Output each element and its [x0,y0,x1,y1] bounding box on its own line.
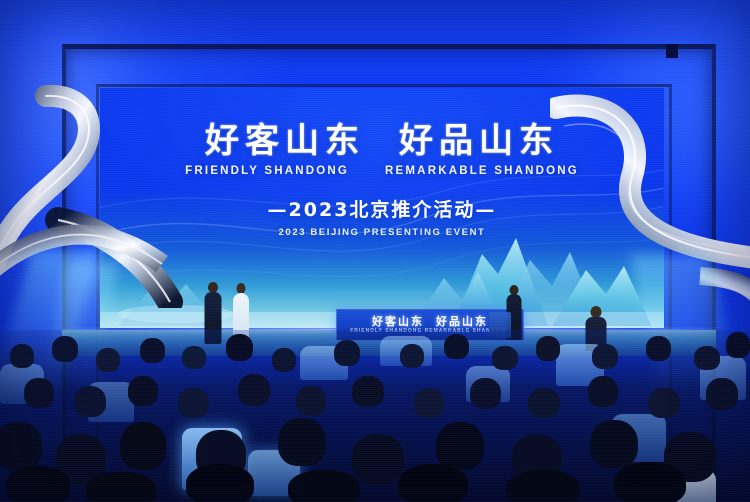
audience-head [120,422,166,470]
subtitle-english: 2023 BEIJING PRESENTING EVENT [100,227,664,238]
audience-head [24,378,54,408]
stage-photo-scene: 好客山东好品山东 FRIENDLY SHANDONG REMARKABLE SH… [0,0,750,502]
audience-head [278,418,326,466]
audience-head [352,434,404,484]
frame-corner-right [666,44,678,58]
audience-head-foreground [6,466,70,502]
podium-cn-right: 好品山东 [436,315,488,328]
podium-cn-left: 好客山东 [372,315,424,328]
audience-head [646,336,671,361]
audience-head [52,336,78,362]
audience-head [436,422,484,470]
audience-head [10,344,34,368]
led-title-block: 好客山东好品山东 FRIENDLY SHANDONG REMARKABLE SH… [100,124,664,238]
audience-head [140,338,165,363]
headline-cn-left: 好客山东 [205,121,365,161]
audience-head [444,334,469,359]
audience-head [96,348,120,372]
headline-english-row: FRIENDLY SHANDONG REMARKABLE SHANDONG [100,165,664,177]
audience-head-foreground [506,470,580,502]
headline-chinese: 好客山东好品山东 [205,124,559,158]
audience-head [492,346,518,370]
audience-head [128,376,158,406]
audience-head [536,336,560,361]
audience-head [592,344,618,369]
audience-head-foreground [398,464,468,502]
audience-head [470,378,501,409]
audience-head [726,332,750,358]
audience-head [272,348,296,372]
audience-head-foreground [86,472,156,502]
headline-en-right: REMARKABLE SHANDONG [385,165,579,177]
audience-head [334,340,360,366]
audience-head-foreground [614,462,686,502]
audience-head-foreground [186,464,254,502]
main-led-screen: 好客山东好品山东 FRIENDLY SHANDONG REMARKABLE SH… [100,88,664,328]
audience-head [414,388,444,418]
audience-head [400,344,424,368]
audience-head [590,420,638,468]
audience-area [0,330,750,502]
audience-head [178,388,209,418]
subtitle-chinese: —2023北京推介活动— [100,195,664,222]
audience-head [706,378,738,410]
audience-head [238,374,270,406]
audience-head [352,376,384,407]
audience-head-foreground [288,470,360,502]
audience-head [588,376,618,407]
audience-head [182,346,206,369]
audience-head [0,422,42,470]
headline-en-left: FRIENDLY SHANDONG [185,165,349,177]
audience-head [226,334,253,361]
audience-head [528,388,560,418]
audience-head [296,386,326,416]
audience-head [74,386,106,417]
headline-cn-right: 好品山东 [399,121,559,161]
audience-head [694,346,720,370]
audience-head [648,388,680,418]
